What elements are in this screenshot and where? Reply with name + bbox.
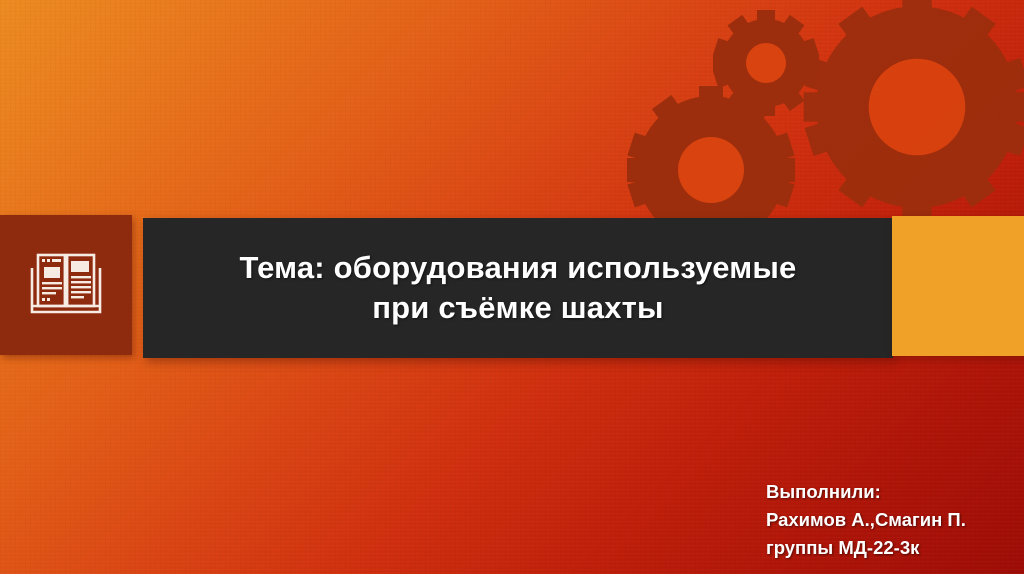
authors-names: Рахимов А.,Смагин П. — [766, 506, 966, 534]
slide-title-bar: Тема: оборудования используемые при съём… — [143, 218, 893, 358]
presentation-slide: Тема: оборудования используемые при съём… — [0, 0, 1024, 574]
amber-accent-block — [892, 216, 1024, 356]
gears-decoration — [604, 0, 1024, 240]
page-title: Тема: оборудования используемые при съём… — [221, 248, 814, 327]
title-line-1: Тема: оборудования используемые — [239, 250, 796, 285]
title-line-2: при съёмке шахты — [372, 290, 663, 325]
open-book-icon — [28, 250, 104, 320]
title-icon-tile — [0, 215, 132, 355]
authors-block: Выполнили: Рахимов А.,Смагин П. группы М… — [766, 478, 966, 562]
authors-label: Выполнили: — [766, 478, 966, 506]
authors-group: группы МД-22-3к — [766, 534, 966, 562]
